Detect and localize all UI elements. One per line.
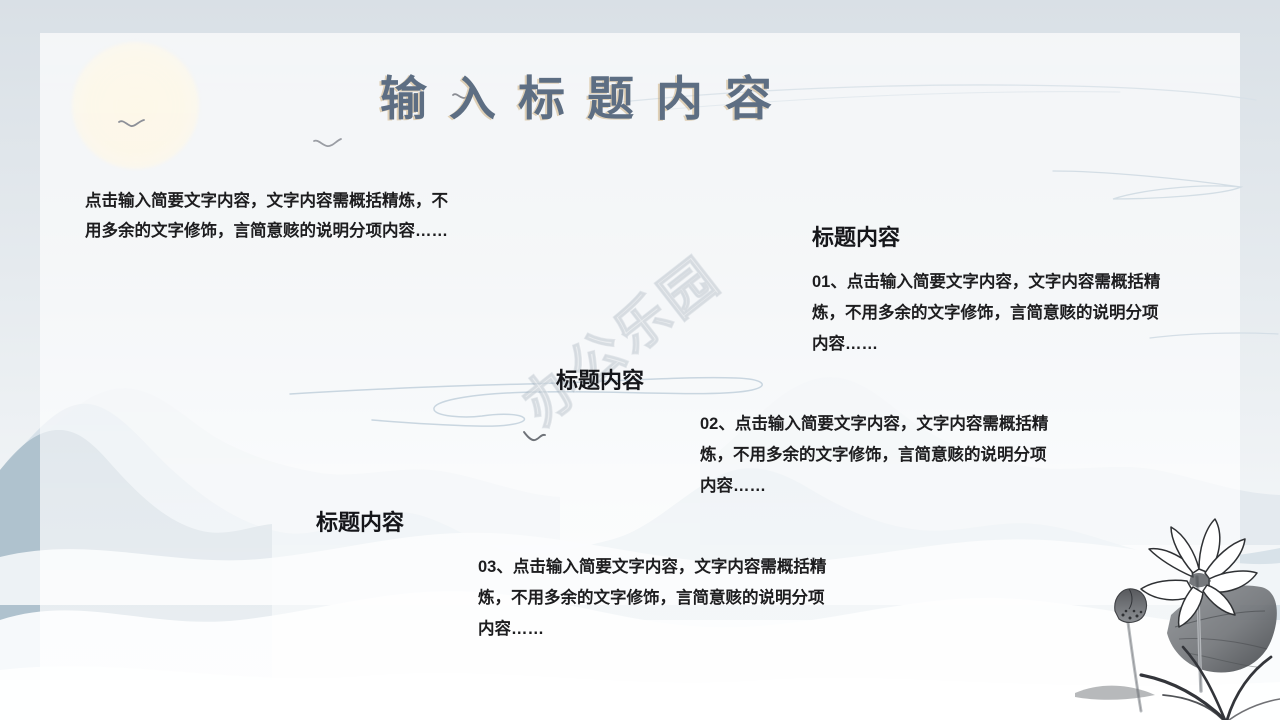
section-heading-03: 标题内容 (316, 505, 404, 537)
presentation-slide: 办公乐园 (0, 0, 1280, 720)
section-body-02: 02、点击输入简要文字内容，文字内容需概括精炼，不用多余的文字修饰，言简意赅的说… (700, 409, 1050, 502)
page-title: 输入标题内容 (380, 60, 794, 129)
section-heading-01: 标题内容 (812, 220, 900, 252)
section-body-03: 03、点击输入简要文字内容，文字内容需概括精炼，不用多余的文字修饰，言简意赅的说… (478, 552, 828, 645)
section-heading-02: 标题内容 (556, 363, 644, 395)
intro-paragraph: 点击输入简要文字内容，文字内容需概括精炼，不用多余的文字修饰，言简意赅的说明分项… (85, 186, 460, 246)
section-body-01: 01、点击输入简要文字内容，文字内容需概括精炼，不用多余的文字修饰，言简意赅的说… (812, 267, 1162, 360)
